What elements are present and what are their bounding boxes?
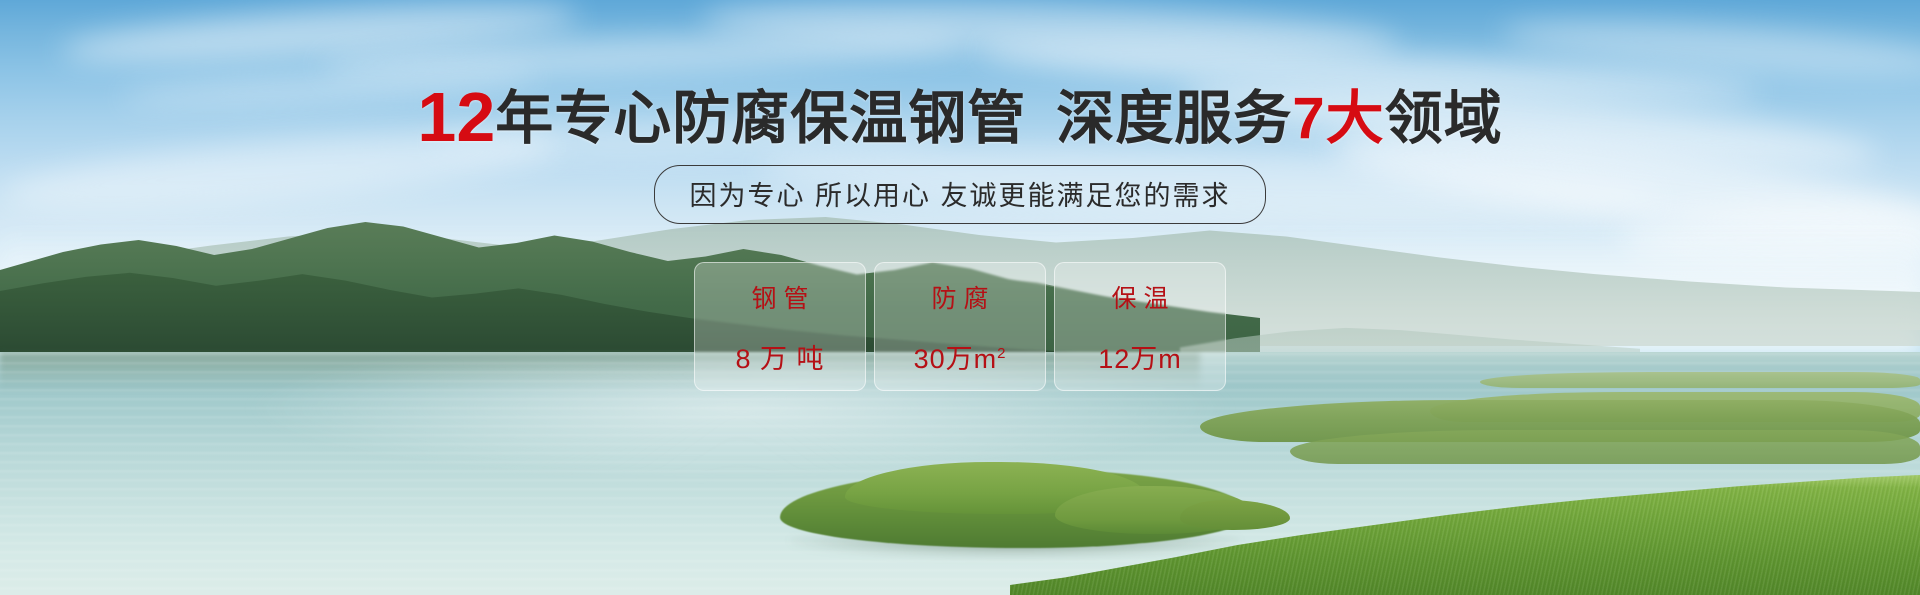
headline-years-number: 12 (417, 78, 495, 156)
headline-part-one: 年专心防腐保温钢管 (495, 86, 1026, 151)
stat-card-group: 钢管 8 万 吨 防腐 30万m2 保温 12万m (0, 262, 1920, 391)
stat-card-steel-pipe[interactable]: 钢管 8 万 吨 (694, 262, 866, 391)
hero-banner: 12年专心防腐保温钢管深度服务7大领域 因为专心 所以用心 友诚更能满足您的需求… (0, 0, 1920, 595)
stat-label: 保温 (1061, 279, 1219, 315)
banner-subtitle-wrap: 因为专心 所以用心 友诚更能满足您的需求 (0, 165, 1920, 224)
stat-label: 钢管 (701, 279, 859, 315)
headline-highlight: 7大 (1292, 86, 1384, 151)
headline-part-two: 深度服务 (1056, 86, 1292, 151)
stat-value: 8 万 吨 (701, 337, 859, 376)
banner-subtitle-pill: 因为专心 所以用心 友诚更能满足您的需求 (654, 165, 1265, 224)
banner-content: 12年专心防腐保温钢管深度服务7大领域 因为专心 所以用心 友诚更能满足您的需求… (0, 0, 1920, 595)
stat-value-superscript: 2 (997, 345, 1006, 362)
stat-card-anticorrosion[interactable]: 防腐 30万m2 (874, 262, 1046, 391)
headline-part-three: 领域 (1385, 86, 1503, 151)
stat-label: 防腐 (881, 279, 1039, 315)
stat-value-text: 8 万 吨 (735, 344, 824, 374)
stat-value: 12万m (1061, 337, 1219, 376)
stat-value-text: 12万m (1098, 344, 1182, 374)
stat-value-text: 30万m (914, 344, 998, 374)
stat-value: 30万m2 (881, 337, 1039, 376)
stat-card-insulation[interactable]: 保温 12万m (1054, 262, 1226, 391)
banner-headline: 12年专心防腐保温钢管深度服务7大领域 (0, 82, 1920, 152)
